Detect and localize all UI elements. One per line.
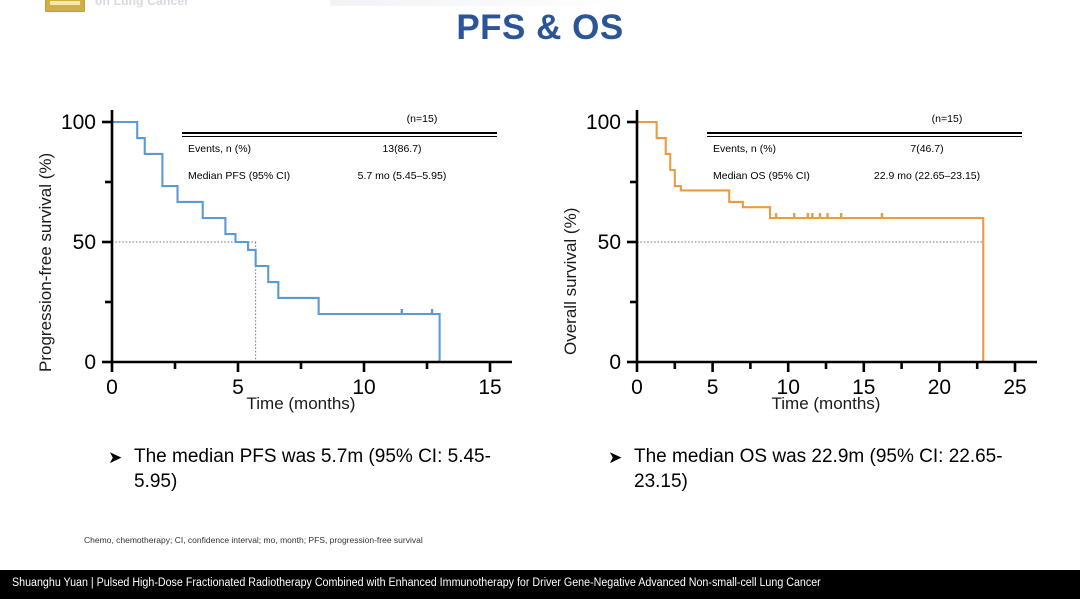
- svg-text:0: 0: [84, 351, 96, 374]
- slide-footer-bar: Shuanghu Yuan | Pulsed High-Dose Fractio…: [0, 570, 1080, 599]
- stats-rule-second-pfs: [182, 136, 497, 137]
- bullet-arrow-icon: ➤: [108, 445, 122, 470]
- stats-table-os: (n=15) Events, n (%) 7(46.7) Median OS (…: [707, 113, 1022, 191]
- svg-text:50: 50: [598, 231, 621, 254]
- stats-row-label-pfs-1: Median PFS (95% CI): [188, 170, 290, 182]
- footer-text: Shuanghu Yuan | Pulsed High-Dose Fractio…: [12, 577, 821, 589]
- stats-n-value-pfs: (n=15): [347, 113, 497, 125]
- logo-ghost-text: [330, 0, 630, 6]
- logo-text: on Lung Cancer: [95, 0, 189, 8]
- stats-n-value-os: (n=15): [872, 113, 1022, 125]
- bullet-pfs-text: The median PFS was 5.7m (95% CI: 5.45-5.…: [134, 444, 508, 494]
- bullet-arrow-icon: ➤: [608, 445, 622, 470]
- stats-row-value-os-1: 22.9 mo (22.65–23.15): [832, 170, 1022, 182]
- footnote-abbreviations: Chemo, chemotherapy; CI, confidence inte…: [84, 535, 423, 545]
- svg-text:0: 0: [609, 351, 621, 374]
- stats-row-value-pfs-0: 13(86.7): [307, 143, 497, 155]
- stats-rule-second-os: [707, 136, 1022, 137]
- x-axis-label-pfs: Time (months): [112, 394, 490, 414]
- stats-n-header-os: (n=15): [707, 113, 1022, 125]
- stats-table-pfs: (n=15) Events, n (%) 13(86.7) Median PFS…: [182, 113, 497, 191]
- stats-row-label-pfs-0: Events, n (%): [188, 143, 251, 155]
- stats-row-value-os-0: 7(46.7): [832, 143, 1022, 155]
- stats-row-label-os-0: Events, n (%): [713, 143, 776, 155]
- chart-panel-os: Overall survival (%) 0501000510152025 Ti…: [545, 100, 1055, 430]
- svg-text:50: 50: [73, 231, 96, 254]
- stats-rule-top-os: [707, 132, 1022, 134]
- x-axis-label-os: Time (months): [637, 394, 1015, 414]
- svg-text:100: 100: [586, 111, 621, 134]
- stats-n-header-pfs: (n=15): [182, 113, 497, 125]
- chart-panel-pfs: Progression-free survival (%) 0501000510…: [20, 100, 530, 430]
- stats-rule-top-pfs: [182, 132, 497, 134]
- bullet-os-text: The median OS was 22.9m (95% CI: 22.65-2…: [634, 444, 1008, 494]
- stats-row-label-os-1: Median OS (95% CI): [713, 170, 810, 182]
- bullet-pfs: ➤ The median PFS was 5.7m (95% CI: 5.45-…: [108, 444, 508, 494]
- bullet-os: ➤ The median OS was 22.9m (95% CI: 22.65…: [608, 444, 1008, 494]
- svg-text:100: 100: [61, 111, 96, 134]
- stats-row-value-pfs-1: 5.7 mo (5.45–5.95): [307, 170, 497, 182]
- page-title: PFS & OS: [0, 8, 1080, 48]
